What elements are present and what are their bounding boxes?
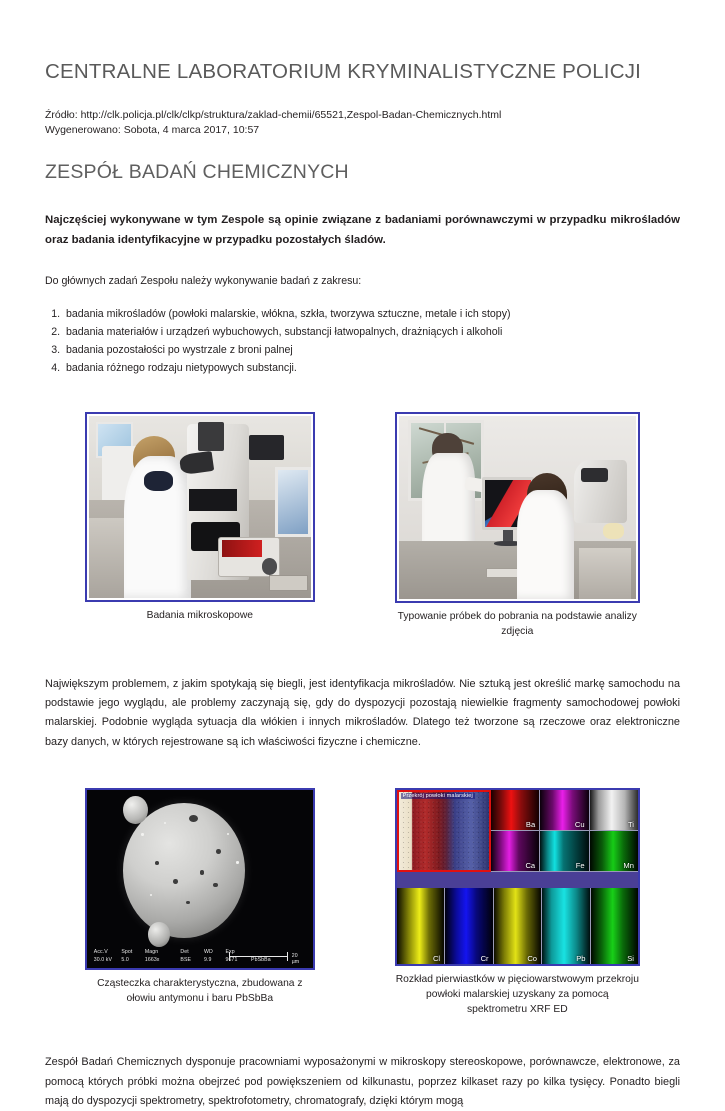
- source-url-line: Źródło: http://clk.policja.pl/clk/clkp/s…: [45, 108, 680, 124]
- xrf-row-1: Ba Cu Ti: [491, 790, 638, 831]
- scale-bar-label: 20 µm: [292, 953, 304, 965]
- scale-bar: 20 µm: [229, 952, 303, 961]
- figure-caption: Badania mikroskopowe: [147, 609, 253, 624]
- element-label: Co: [527, 954, 537, 963]
- element-map-tile: Cr: [445, 888, 493, 965]
- body-paragraph-last: Zespół Badań Chemicznych dysponuje praco…: [45, 1053, 680, 1111]
- page-title: CENTRALNE LABORATORIUM KRYMINALISTYCZNE …: [45, 60, 680, 85]
- element-map-tile: Cl: [397, 888, 445, 965]
- list-item: badania różnego rodzaju nietypowych subs…: [63, 359, 680, 377]
- satellite-particle: [123, 796, 148, 824]
- image-frame: Acc.V Spot Magn Det WD Exp 30.0 kV 5.0 1…: [85, 788, 315, 970]
- camera-module: [249, 435, 284, 460]
- intro-paragraph: Do głównych zadań Zespołu należy wykonyw…: [45, 273, 680, 290]
- figure-caption: Cząsteczka charakterystyczna, zbudowana …: [85, 977, 315, 1006]
- list-item: badania pozostałości po wystrzale z bron…: [63, 341, 680, 359]
- xrf-element-rows: Ba Cu Ti Ca: [491, 790, 638, 872]
- element-label: Ti: [628, 820, 634, 829]
- databar-header: Magn: [145, 949, 179, 955]
- element-label: Pb: [576, 954, 585, 963]
- sem-data-bar: Acc.V Spot Magn Det WD Exp 30.0 kV 5.0 1…: [87, 946, 313, 968]
- figure-row-analyses: Acc.V Spot Magn Det WD Exp 30.0 kV 5.0 1…: [45, 772, 680, 1033]
- element-label: Si: [627, 954, 634, 963]
- element-label: Cr: [481, 954, 489, 963]
- tasks-list: badania mikrośladów (powłoki malarskie, …: [45, 305, 680, 378]
- satellite-particle: [148, 922, 171, 947]
- list-item: badania materiałów i urządzeń wybuchowyc…: [63, 323, 680, 341]
- figure-sample-selection: Typowanie próbek do pobrania na podstawi…: [395, 412, 640, 639]
- databar-header: Det: [180, 949, 202, 955]
- cross-section-label: Przekrój powłoki malarskiej: [401, 793, 475, 799]
- keyboard: [269, 575, 309, 591]
- databar-header: Spot: [121, 949, 143, 955]
- sem-micrograph: Acc.V Spot Magn Det WD Exp 30.0 kV 5.0 1…: [87, 790, 313, 968]
- databar-value: 30.0 kV: [94, 957, 120, 963]
- element-label: Ca: [525, 861, 535, 870]
- document-page: CENTRALNE LABORATORIUM KRYMINALISTYCZNE …: [0, 0, 725, 1024]
- photo-microscope-examination: [89, 416, 311, 598]
- element-label: Ba: [526, 820, 535, 829]
- figure-caption: Rozkład pierwiastków w pięciowarstwowym …: [395, 973, 640, 1017]
- right-monitor: [275, 467, 310, 536]
- body-paragraph-middle: Największym problemem, z jakim spotykają…: [45, 675, 680, 753]
- element-map-tile: Ti: [590, 790, 638, 831]
- databar-value: BSE: [180, 957, 202, 963]
- xrf-element-map-image: Przekrój powłoki malarskiej Ba Cu: [395, 788, 640, 966]
- expert-seated: [517, 490, 574, 600]
- databar-value: 9.9: [204, 957, 224, 963]
- element-map-tile: Fe: [540, 831, 589, 872]
- image-frame: [395, 412, 640, 603]
- lead-paragraph: Najczęściej wykonywane w tym Zespole są …: [45, 210, 680, 251]
- element-label: Cl: [433, 954, 440, 963]
- photo-sample-selection: [399, 416, 636, 599]
- element-map-tile: Co: [494, 888, 542, 965]
- gsr-particle: [123, 803, 245, 938]
- purple-divider: [397, 872, 638, 888]
- element-map-tile: Mn: [590, 831, 638, 872]
- element-map-tile: Pb: [542, 888, 590, 965]
- element-label: Mn: [623, 861, 634, 870]
- document-meta: Źródło: http://clk.policja.pl/clk/clkp/s…: [45, 108, 680, 139]
- generated-date-line: Wygenerowano: Sobota, 4 marca 2017, 10:5…: [45, 123, 680, 139]
- figure-sem-particle: Acc.V Spot Magn Det WD Exp 30.0 kV 5.0 1…: [85, 788, 315, 1006]
- databar-value: 5.0: [121, 957, 143, 963]
- list-item: badania mikrośladów (powłoki malarskie, …: [63, 305, 680, 323]
- xrf-row-2: Ca Fe Mn: [491, 831, 638, 872]
- paint-cross-section: Przekrój powłoki malarskiej: [397, 790, 491, 872]
- figure-caption: Typowanie próbek do pobrania na podstawi…: [395, 610, 640, 639]
- figure-microscope-examination: Badania mikroskopowe: [85, 412, 315, 624]
- element-label: Fe: [576, 861, 585, 870]
- element-map-tile: Ba: [491, 790, 540, 831]
- databar-value: 1663x: [145, 957, 179, 963]
- image-frame: [85, 412, 315, 602]
- figure-row-photos: Badania mikroskopowe: [45, 396, 680, 655]
- databar-header: WD: [204, 949, 224, 955]
- element-map-tile: Si: [591, 888, 638, 965]
- element-label: Cu: [575, 820, 585, 829]
- databar-header: Acc.V: [94, 949, 120, 955]
- element-map-tile: Cu: [540, 790, 589, 831]
- figure-xrf-maps: Przekrój powłoki malarskiej Ba Cu: [395, 788, 640, 1017]
- section-title: ZESPÓŁ BADAŃ CHEMICZNYCH: [45, 161, 680, 184]
- element-map-tile: Ca: [491, 831, 540, 872]
- xrf-row-3: Cl Cr Co Pb: [397, 888, 638, 965]
